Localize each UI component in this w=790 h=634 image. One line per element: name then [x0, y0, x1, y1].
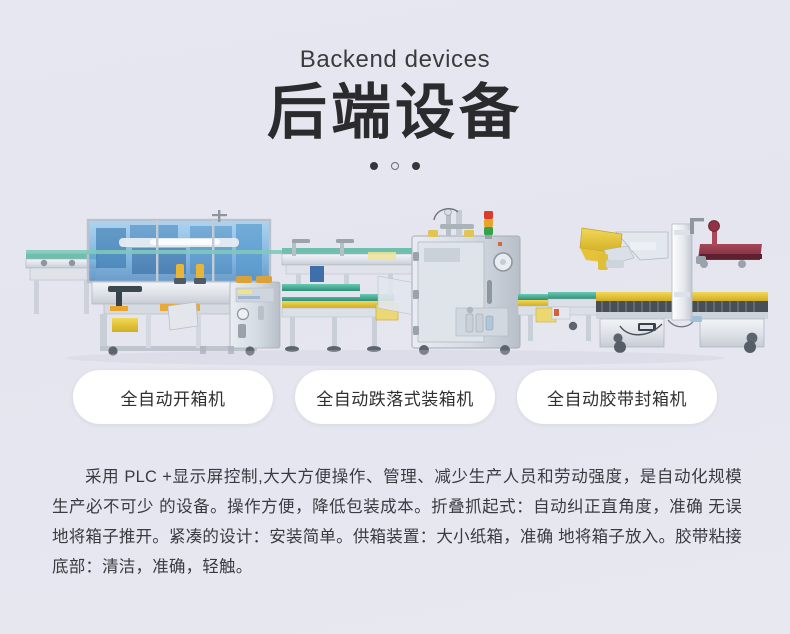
dot-1-icon [370, 162, 378, 170]
dot-decoration [0, 160, 790, 172]
pill-tape-sealer[interactable]: 全自动胶带封箱机 [517, 370, 717, 424]
pill-drop-case-packer[interactable]: 全自动跌落式装箱机 [295, 370, 495, 424]
page-title: 后端设备 [0, 81, 790, 144]
page-eyebrow: Backend devices [0, 46, 790, 75]
tape-head [696, 221, 762, 268]
signal-tower-icon [484, 211, 493, 239]
machine-line-illustration [0, 198, 790, 373]
machine-drop-case-packer [282, 209, 602, 355]
description-paragraph: 采用 PLC +显示屏控制,大大方便操作、管理、减少生产人员和劳动强度，是自动化… [52, 462, 742, 582]
page-root: Backend devices 后端设备 [0, 0, 790, 634]
machine-tape-sealer [548, 218, 768, 353]
dot-3-icon [412, 162, 420, 170]
pill-carton-erector[interactable]: 全自动开箱机 [73, 370, 273, 424]
machine-label-row: 全自动开箱机 全自动跌落式装箱机 全自动胶带封箱机 [0, 370, 790, 424]
dot-2-icon [391, 162, 399, 170]
machine-carton-erector [26, 210, 292, 356]
page-header: Backend devices 后端设备 [0, 46, 790, 172]
